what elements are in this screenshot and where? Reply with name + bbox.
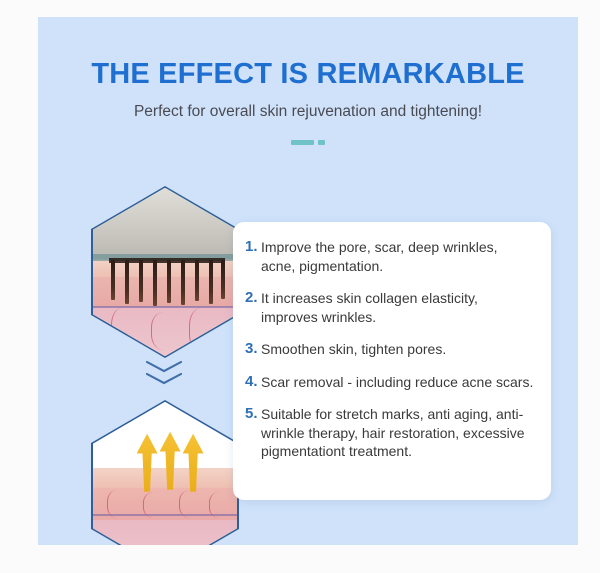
hexagon-inner-top (93, 188, 238, 356)
needle (181, 260, 185, 305)
dash-divider-icon (291, 139, 325, 145)
blood-vessel (143, 492, 170, 518)
chevron-2 (145, 372, 183, 385)
blood-vessel (209, 492, 234, 518)
needle (221, 260, 225, 299)
device-head (93, 188, 238, 260)
list-item-text: Suitable for stretch marks, anti aging, … (261, 405, 535, 461)
blood-vessel (107, 490, 132, 518)
hexagon-image-microneedling (91, 186, 239, 358)
benefits-list: 1. Improve the pore, scar, deep wrinkles… (245, 238, 535, 461)
hexagon-inner-bottom (93, 402, 238, 545)
needle (195, 260, 199, 301)
page-root: THE EFFECT IS REMARKABLE Perfect for ove… (0, 0, 600, 573)
hexagon-image-regeneration (91, 400, 239, 545)
needle (125, 260, 129, 304)
list-item: 1. Improve the pore, scar, deep wrinkles… (245, 238, 535, 275)
dash-long (291, 140, 314, 145)
needle (167, 260, 171, 303)
list-item-number: 4. (245, 373, 261, 392)
needle (139, 260, 143, 302)
chevron-down-icon (145, 360, 185, 394)
list-item-text: It increases skin collagen elasticity, i… (261, 289, 535, 326)
list-item-text: Scar removal - including reduce acne sca… (261, 373, 535, 392)
vessel-band (93, 306, 238, 309)
header: THE EFFECT IS REMARKABLE Perfect for ove… (38, 17, 578, 145)
list-item: 5. Suitable for stretch marks, anti agin… (245, 405, 535, 461)
blood-vessel (189, 308, 218, 352)
list-item-number: 2. (245, 289, 261, 308)
skin-layer-subcutaneous (93, 520, 238, 545)
blood-vessel (179, 490, 206, 518)
list-item-number: 3. (245, 340, 261, 359)
list-item: 4. Scar removal - including reduce acne … (245, 373, 535, 392)
benefits-card: 1. Improve the pore, scar, deep wrinkles… (233, 222, 551, 500)
needle (111, 260, 115, 300)
list-item-text: Smoothen skin, tighten pores. (261, 340, 535, 359)
dash-short (318, 140, 325, 145)
needle (209, 260, 213, 304)
skin-layer-epidermis (93, 468, 238, 488)
blood-vessel (151, 312, 182, 350)
list-item-number: 5. (245, 405, 261, 424)
list-item-number: 1. (245, 238, 261, 257)
page-title: THE EFFECT IS REMARKABLE (38, 17, 578, 91)
page-subtitle: Perfect for overall skin rejuvenation an… (38, 91, 578, 122)
promo-panel: THE EFFECT IS REMARKABLE Perfect for ove… (38, 17, 578, 545)
needle (153, 260, 157, 306)
list-item: 2. It increases skin collagen elasticity… (245, 289, 535, 326)
list-item-text: Improve the pore, scar, deep wrinkles, a… (261, 238, 535, 275)
list-item: 3. Smoothen skin, tighten pores. (245, 340, 535, 359)
blood-vessel (111, 308, 138, 350)
